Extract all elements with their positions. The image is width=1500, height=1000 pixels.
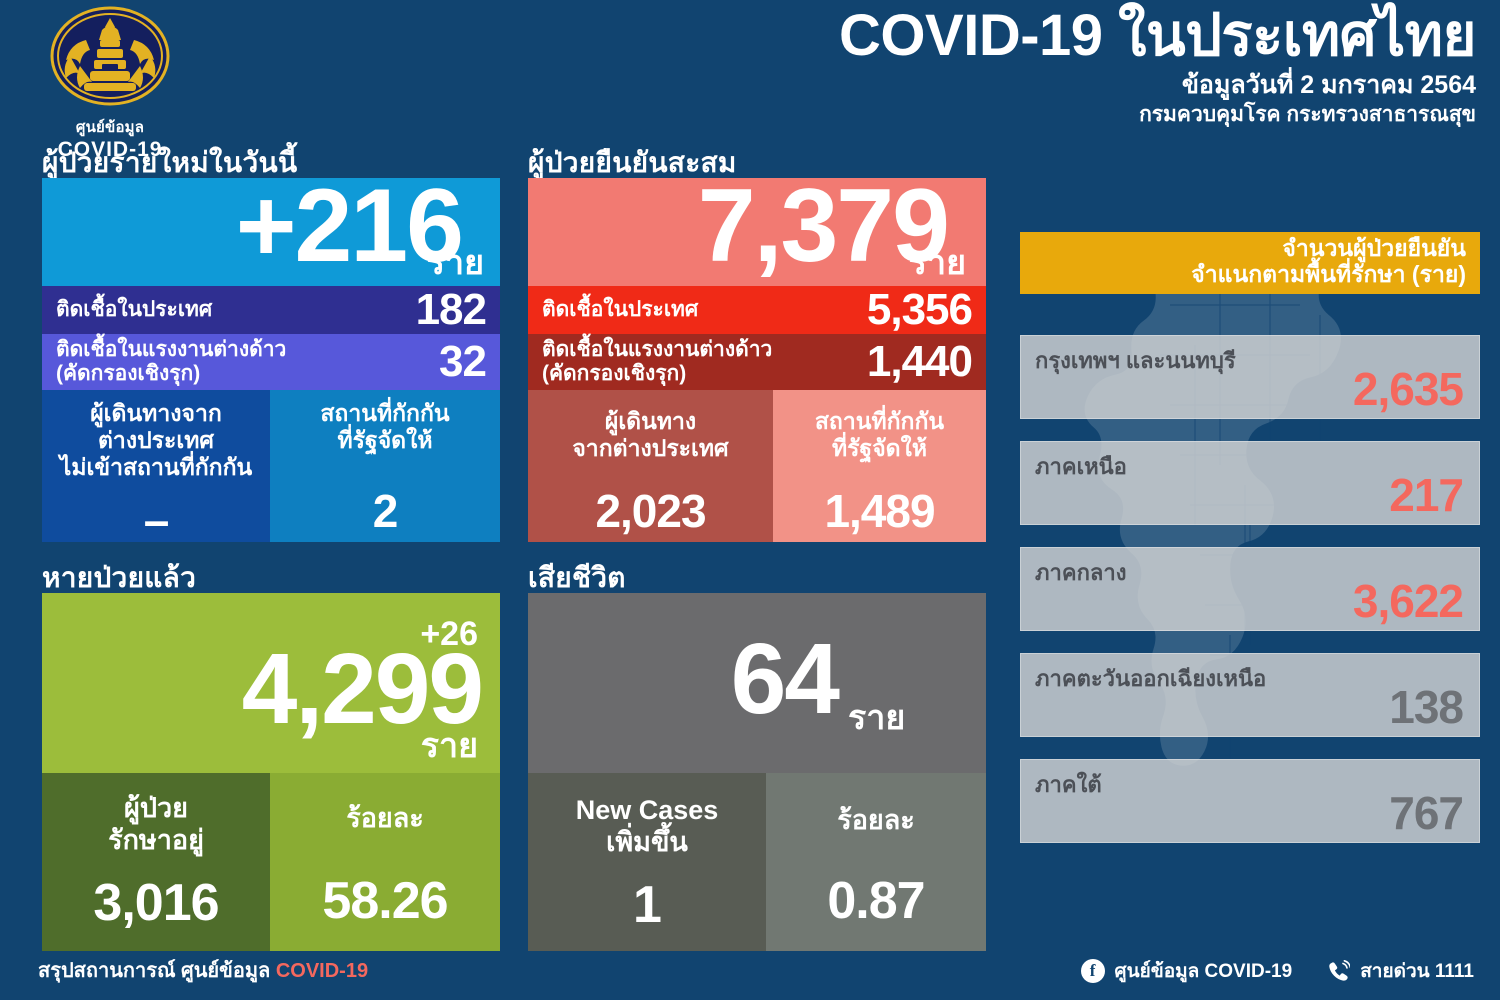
new-cases-unit: ราย [427, 246, 484, 280]
facebook-label: ศูนย์ข้อมูล COVID-19 [1115, 956, 1293, 986]
phone-call-icon[interactable] [1326, 960, 1350, 982]
recovered-cell-active-value: 3,016 [42, 873, 270, 933]
regions-header-line2: จำแนกตามพื้นที่รักษา (ราย) [1191, 262, 1466, 288]
footer-left-brand: COVID-19 [276, 960, 368, 982]
region-row-bangkok[interactable]: กรุงเทพฯ และนนทบุรี 2,635 [1020, 335, 1480, 419]
cumulative-row-local: ติดเชื้อในประเทศ 5,356 [528, 286, 986, 334]
deaths-cell-new-label: New Cases เพิ่มขึ้น [528, 795, 766, 859]
cumulative-cell-traveler-label: ผู้เดินทาง จากต่างประเทศ [528, 408, 773, 462]
new-cases-cell-traveler: ผู้เดินทางจาก ต่างประเทศ ไม่เข้าสถานที่ก… [42, 390, 270, 542]
header-organization: กรมควบคุมโรค กระทรวงสาธารณสุข [839, 101, 1476, 128]
hotline-label: สายด่วน 1111 [1360, 956, 1474, 986]
page-title: COVID-19 ในประเทศไทย [839, 6, 1476, 67]
new-cases-row-migrant: ติดเชื้อในแรงงานต่างด้าว (คัดกรองเชิงรุก… [42, 334, 500, 390]
thai-royal-garuda-emblem-icon [40, 4, 180, 114]
header-date: ข้อมูลวันที่ 2 มกราคม 2564 [839, 69, 1476, 102]
deaths-cell-percent-value: 0.87 [766, 871, 986, 931]
region-value-northeast: 138 [1389, 680, 1463, 734]
deaths-cell-new: New Cases เพิ่มขึ้น 1 [528, 773, 766, 951]
region-row-north[interactable]: ภาคเหนือ 217 [1020, 441, 1480, 525]
region-row-central[interactable]: ภาคกลาง 3,622 [1020, 547, 1480, 631]
new-cases-cell-quarantine: สถานที่กักกัน ที่รัฐจัดให้ 2 [270, 390, 500, 542]
new-cases-total: +216 [42, 174, 462, 278]
deaths-unit: ราย [848, 701, 905, 735]
cumulative-cell-quarantine-value: 1,489 [773, 484, 986, 538]
region-label-bangkok: กรุงเทพฯ และนนทบุรี [1035, 343, 1236, 378]
facebook-icon[interactable]: f [1081, 959, 1105, 983]
recovered-total-block: +26 4,299 ราย [42, 593, 500, 773]
recovered-cell-percent: ร้อยละ 58.26 [270, 773, 500, 951]
new-cases-row-local-value: 182 [416, 285, 486, 335]
recovered-cell-active: ผู้ป่วย รักษาอยู่ 3,016 [42, 773, 270, 951]
recovered-cell-percent-label: ร้อยละ [270, 803, 500, 835]
new-cases-row-local-label: ติดเชื้อในประเทศ [56, 298, 212, 322]
new-cases-row-migrant-label: ติดเชื้อในแรงงานต่างด้าว (คัดกรองเชิงรุก… [56, 338, 286, 385]
region-value-south: 767 [1389, 786, 1463, 840]
deaths-total-block: 64 ราย [528, 593, 986, 773]
new-cases-row-migrant-value: 32 [439, 337, 486, 387]
region-row-northeast[interactable]: ภาคตะวันออกเฉียงเหนือ 138 [1020, 653, 1480, 737]
regions-header-line1: จำนวนผู้ป่วยยืนยัน [1282, 236, 1466, 262]
cumulative-row-local-label: ติดเชื้อในประเทศ [542, 298, 698, 322]
region-value-central: 3,622 [1353, 574, 1463, 628]
recovered-unit: ราย [421, 729, 478, 763]
cumulative-unit: ราย [909, 246, 966, 280]
cumulative-row-local-value: 5,356 [867, 285, 972, 335]
region-row-south[interactable]: ภาคใต้ 767 [1020, 759, 1480, 843]
region-label-northeast: ภาคตะวันออกเฉียงเหนือ [1035, 661, 1266, 696]
new-cases-cell-quarantine-value: 2 [270, 484, 500, 538]
recovered-cell-active-label: ผู้ป่วย รักษาอยู่ [42, 793, 270, 857]
regions-header: จำนวนผู้ป่วยยืนยัน จำแนกตามพื้นที่รักษา … [1020, 232, 1480, 294]
cumulative-total-block: 7,379 ราย [528, 178, 986, 286]
new-cases-cell-traveler-label: ผู้เดินทางจาก ต่างประเทศ ไม่เข้าสถานที่ก… [42, 400, 270, 481]
region-label-south: ภาคใต้ [1035, 767, 1102, 802]
region-value-north: 217 [1389, 468, 1463, 522]
new-cases-total-block: +216 ราย [42, 178, 500, 286]
cumulative-row-migrant-value: 1,440 [867, 337, 972, 387]
deaths-cell-new-value: 1 [528, 875, 766, 935]
footer-right: f ศูนย์ข้อมูล COVID-19 สายด่วน 1111 [1081, 956, 1474, 986]
cumulative-cell-traveler-value: 2,023 [528, 484, 773, 538]
deaths-cell-percent: ร้อยละ 0.87 [766, 773, 986, 951]
emblem-caption-thai: ศูนย์ข้อมูล [20, 115, 200, 139]
infographic-page: ศูนย์ข้อมูล COVID-19 COVID-19 ในประเทศไท… [0, 0, 1500, 1000]
cumulative-cell-quarantine-label: สถานที่กักกัน ที่รัฐจัดให้ [773, 408, 986, 462]
emblem-block: ศูนย์ข้อมูล COVID-19 [20, 4, 200, 162]
footer-left-text: สรุปสถานการณ์ ศูนย์ข้อมูล [38, 960, 276, 982]
new-cases-row-local: ติดเชื้อในประเทศ 182 [42, 286, 500, 334]
deaths-total: 64 [528, 629, 838, 729]
recovered-total: 4,299 [42, 639, 482, 739]
deaths-cell-percent-label: ร้อยละ [766, 805, 986, 837]
cumulative-cell-quarantine: สถานที่กักกัน ที่รัฐจัดให้ 1,489 [773, 390, 986, 542]
header-text-block: COVID-19 ในประเทศไทย ข้อมูลวันที่ 2 มกรา… [839, 6, 1476, 129]
region-value-bangkok: 2,635 [1353, 362, 1463, 416]
new-cases-cell-traveler-value: – [42, 493, 270, 547]
new-cases-cell-quarantine-label: สถานที่กักกัน ที่รัฐจัดให้ [270, 400, 500, 454]
cumulative-row-migrant-label: ติดเชื้อในแรงงานต่างด้าว (คัดกรองเชิงรุก… [542, 338, 772, 385]
cumulative-cell-traveler: ผู้เดินทาง จากต่างประเทศ 2,023 [528, 390, 773, 542]
cumulative-row-migrant: ติดเชื้อในแรงงานต่างด้าว (คัดกรองเชิงรุก… [528, 334, 986, 390]
recovered-cell-percent-value: 58.26 [270, 871, 500, 931]
region-label-central: ภาคกลาง [1035, 555, 1126, 590]
footer-left: สรุปสถานการณ์ ศูนย์ข้อมูล COVID-19 [38, 954, 368, 986]
cumulative-total: 7,379 [528, 174, 948, 278]
region-label-north: ภาคเหนือ [1035, 449, 1127, 484]
